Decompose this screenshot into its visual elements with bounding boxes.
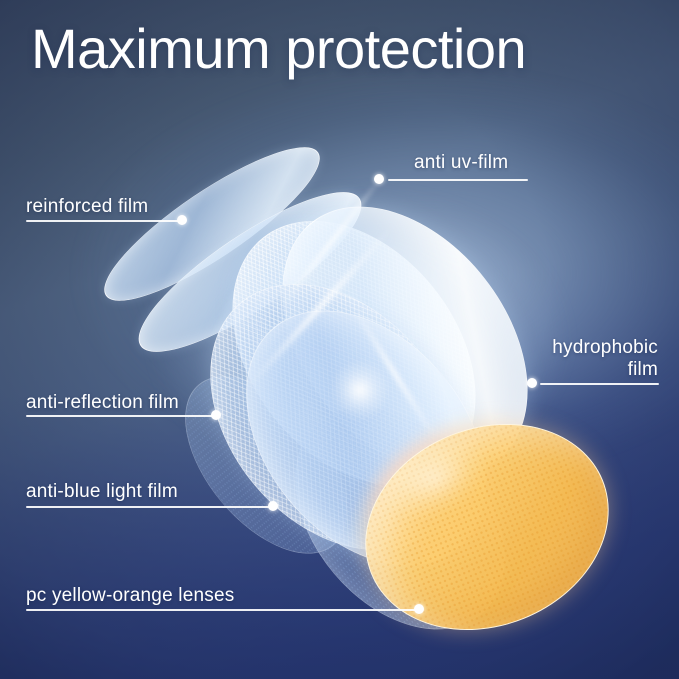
callout-label-anti-blue-light-film: anti-blue light film [26, 481, 178, 503]
callout-label-hydrophobic-film: hydrophobic film [508, 337, 658, 380]
specular-glare-core [318, 348, 402, 432]
callout-dot-anti-reflection-film [211, 410, 221, 420]
callout-label-pc-yellow-orange-lenses: pc yellow-orange lenses [26, 585, 234, 607]
callout-dot-anti-blue-light-film [268, 501, 278, 511]
callout-leader-anti-reflection-film [26, 415, 215, 417]
callout-label-reinforced-film: reinforced film [26, 196, 148, 218]
callout-leader-reinforced-film [26, 220, 182, 222]
callout-leader-anti-blue-light-film [26, 506, 272, 508]
callout-leader-hydrophobic-film [540, 383, 659, 385]
callout-dot-hydrophobic-film [527, 378, 537, 388]
callout-label-hydrophobic-film-line1: hydrophobic [508, 337, 658, 359]
callout-label-anti-uv-film: anti uv-film [414, 152, 508, 174]
callout-dot-reinforced-film [177, 215, 187, 225]
callout-label-anti-reflection-film: anti-reflection film [26, 392, 179, 414]
callout-leader-pc-yellow-orange-lenses [26, 609, 418, 611]
callout-leader-anti-uv-film [388, 179, 528, 181]
product-infographic: Maximum protection reinforced film anti … [0, 0, 679, 679]
callout-dot-anti-uv-film [374, 174, 384, 184]
page-title: Maximum protection [31, 16, 526, 81]
callout-dot-pc-yellow-orange-lenses [414, 604, 424, 614]
